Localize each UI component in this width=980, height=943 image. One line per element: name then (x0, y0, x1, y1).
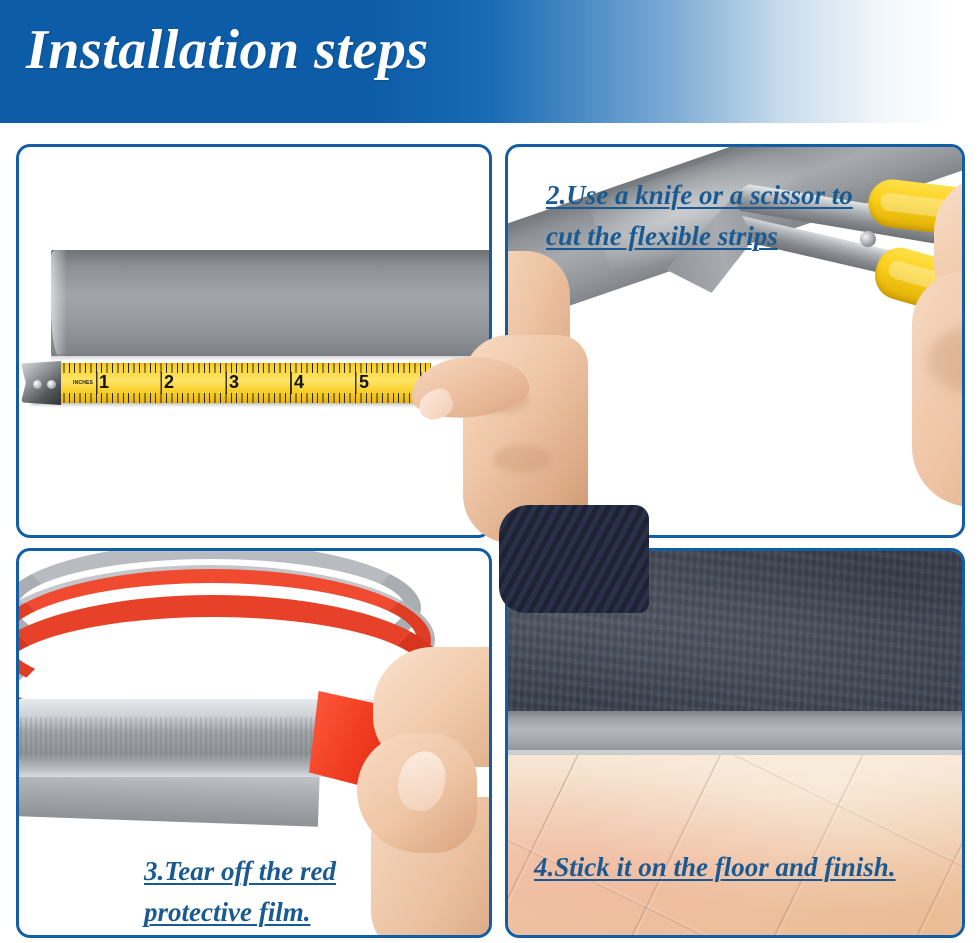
step-3-caption: 3.Tear off the red protective film. (144, 851, 336, 933)
right-hand-holding-scissors (908, 175, 962, 505)
step-4-caption: 4.Stick it on the floor and finish. (534, 847, 896, 888)
step-panel-1: INCHES 1 2 3 4 5 1.Measure the correct l… (16, 144, 492, 538)
shirt-sleeve (499, 505, 649, 613)
tape-number-3: 3 (229, 372, 239, 392)
tape-number-1: 1 (99, 372, 109, 392)
tape-rivet-icon (33, 380, 42, 389)
thumbnail (414, 385, 456, 424)
tape-measure: INCHES 1 2 3 4 5 (31, 363, 431, 403)
installation-steps-infographic: Installation steps INCHES 1 2 3 4 5 1.Me… (0, 0, 980, 943)
tape-ticks-bottom (31, 393, 431, 403)
hand-holding-tape (411, 335, 581, 565)
step-3-image: 3.Tear off the red protective film. (19, 551, 489, 935)
tape-number-4: 4 (294, 372, 304, 392)
tape-number-2: 2 (164, 372, 174, 392)
step-panel-3: 3.Tear off the red protective film. (16, 548, 492, 938)
hand-peeling-film (355, 647, 489, 935)
tape-unit-label: INCHES (73, 380, 93, 386)
strip-adhesive-texture (19, 717, 345, 757)
tape-number-5: 5 (359, 372, 369, 392)
tape-rivet-icon (47, 380, 56, 389)
scissors-pivot-screw (860, 231, 876, 247)
header-banner: Installation steps (0, 0, 980, 123)
step-4-caption-line-1: 4.Stick it on the floor and finish. (534, 847, 896, 888)
floor-shading (508, 755, 962, 935)
page-title: Installation steps (26, 22, 429, 78)
step-2-caption-line-1: 2.Use a knife or a scissor to (546, 175, 853, 216)
step-3-caption-line-2: protective film. (144, 892, 310, 933)
step-3-caption-line-1: 3.Tear off the red (144, 851, 336, 892)
wooden-floor (508, 755, 962, 935)
step-2-caption: 2.Use a knife or a scissor to cut the fl… (546, 175, 853, 257)
installed-flexible-strip (508, 711, 962, 755)
step-2-caption-line-2: cut the flexible strips (546, 216, 778, 257)
knuckle-shading (493, 445, 551, 473)
